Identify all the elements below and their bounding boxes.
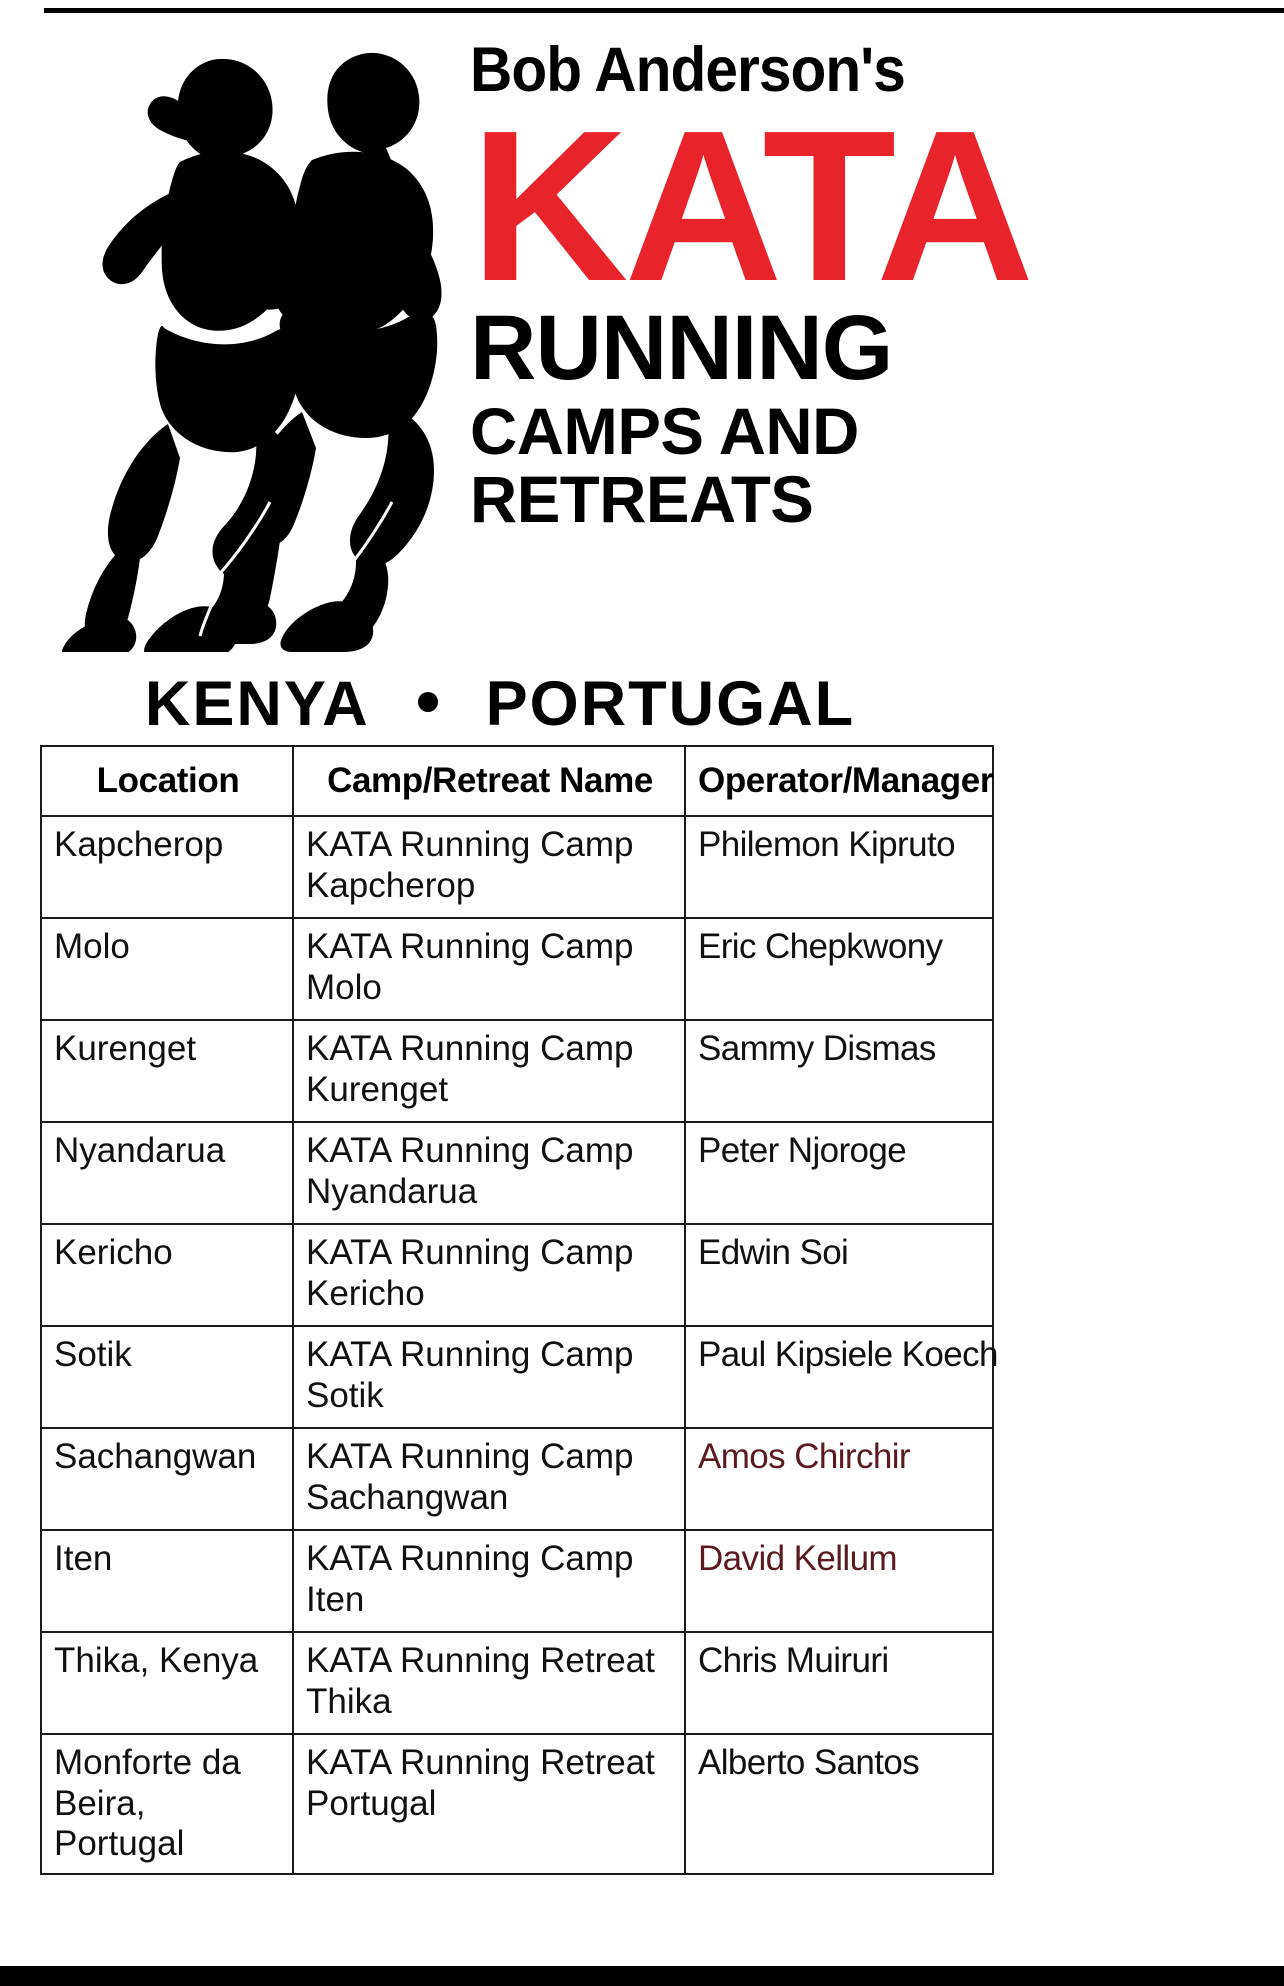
table-row: MoloKATA Running Camp MoloEric Chepkwony — [41, 918, 993, 1020]
cell-location: Nyandarua — [41, 1122, 293, 1224]
logo-wordmark: Bob Anderson's KATA RUNNING CAMPS AND RE… — [470, 40, 1270, 532]
column-header-location: Location — [41, 746, 293, 816]
cell-location: Kericho — [41, 1224, 293, 1326]
cell-camp-name: KATA Running Camp Kericho — [293, 1224, 685, 1326]
column-header-operator: Operator/Manager — [685, 746, 993, 816]
table-row: SotikKATA Running Camp SotikPaul Kipsiel… — [41, 1326, 993, 1428]
cell-camp-name: KATA Running Camp Kurenget — [293, 1020, 685, 1122]
column-header-camp-name: Camp/Retreat Name — [293, 746, 685, 816]
bullet-dot-icon — [418, 692, 438, 712]
table-row: Thika, KenyaKATA Running Retreat ThikaCh… — [41, 1632, 993, 1734]
cell-location: Iten — [41, 1530, 293, 1632]
cell-operator: Chris Muiruri — [685, 1632, 993, 1734]
logo-line-camps: CAMPS AND — [470, 398, 1262, 464]
logo-countries-line: KENYAPORTUGAL — [0, 668, 1000, 740]
top-divider-rule — [44, 8, 1284, 13]
cell-camp-name: KATA Running Camp Molo — [293, 918, 685, 1020]
cell-camp-name: KATA Running Camp Iten — [293, 1530, 685, 1632]
country-kenya: KENYA — [145, 669, 370, 739]
cell-operator: Paul Kipsiele Koech — [685, 1326, 993, 1428]
cell-operator: Edwin Soi — [685, 1224, 993, 1326]
cell-operator: Eric Chepkwony — [685, 918, 993, 1020]
cell-operator: Philemon Kipruto — [685, 816, 993, 918]
cell-camp-name: KATA Running Camp Kapcherop — [293, 816, 685, 918]
cell-camp-name: KATA Running Camp Sotik — [293, 1326, 685, 1428]
cell-location: Monforte da Beira, Portugal — [41, 1734, 293, 1874]
table-row: ItenKATA Running Camp ItenDavid Kellum — [41, 1530, 993, 1632]
cell-location: Sotik — [41, 1326, 293, 1428]
cell-operator: Peter Njoroge — [685, 1122, 993, 1224]
logo-brand-kata: KATA — [470, 120, 1284, 292]
table-row: KurengetKATA Running Camp KurengetSammy … — [41, 1020, 993, 1122]
cell-camp-name: KATA Running Camp Nyandarua — [293, 1122, 685, 1224]
cell-operator: David Kellum — [685, 1530, 993, 1632]
cell-location: Kurenget — [41, 1020, 293, 1122]
cell-operator: Amos Chirchir — [685, 1428, 993, 1530]
camps-and-retreats-table: Location Camp/Retreat Name Operator/Mana… — [40, 745, 994, 1875]
table-row: NyandaruaKATA Running Camp NyandaruaPete… — [41, 1122, 993, 1224]
cell-camp-name: KATA Running Retreat Portugal — [293, 1734, 685, 1874]
table-header-row: Location Camp/Retreat Name Operator/Mana… — [41, 746, 993, 816]
country-portugal: PORTUGAL — [486, 669, 855, 739]
table-row: KapcheropKATA Running Camp KapcheropPhil… — [41, 816, 993, 918]
bottom-divider-bar — [0, 1966, 1284, 1986]
cell-camp-name: KATA Running Retreat Thika — [293, 1632, 685, 1734]
cell-operator: Sammy Dismas — [685, 1020, 993, 1122]
table-row: KerichoKATA Running Camp KerichoEdwin So… — [41, 1224, 993, 1326]
logo-line-running: RUNNING — [470, 306, 1270, 391]
running-figures-icon — [62, 32, 492, 652]
logo-line-retreats: RETREATS — [470, 466, 1262, 532]
cell-location: Thika, Kenya — [41, 1632, 293, 1734]
table-row: SachangwanKATA Running Camp SachangwanAm… — [41, 1428, 993, 1530]
table-row: Monforte da Beira, PortugalKATA Running … — [41, 1734, 993, 1874]
cell-camp-name: KATA Running Camp Sachangwan — [293, 1428, 685, 1530]
cell-location: Molo — [41, 918, 293, 1020]
kata-logo-block: Bob Anderson's KATA RUNNING CAMPS AND RE… — [0, 20, 1284, 720]
cell-location: Sachangwan — [41, 1428, 293, 1530]
cell-operator: Alberto Santos — [685, 1734, 993, 1874]
cell-location: Kapcherop — [41, 816, 293, 918]
